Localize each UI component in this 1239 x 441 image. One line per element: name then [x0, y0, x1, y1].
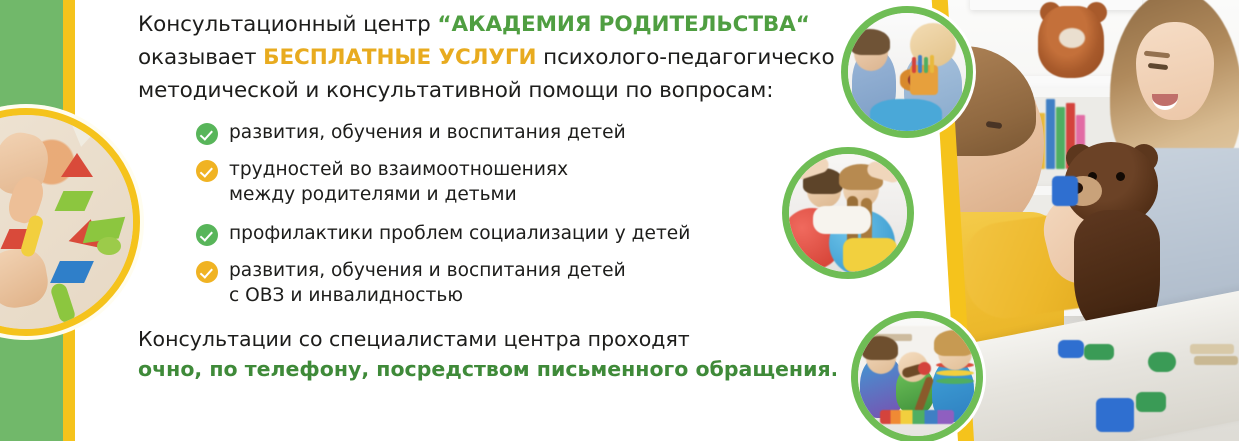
headline-line-3: методической и консультативной помощи по…	[138, 74, 858, 107]
boy-curly-hair	[934, 330, 974, 356]
pencil	[1190, 344, 1234, 354]
clay-piece-green	[1136, 392, 1166, 412]
list-item-line-1: развития, обучения и воспитания детей	[229, 260, 626, 281]
check-circle-icon	[196, 123, 218, 145]
headline-line-1-prefix: Консультационный центр	[138, 12, 437, 37]
wood-triangle-red	[61, 153, 93, 177]
banner-text-content: Консультационный центр “АКАДЕМИЯ РОДИТЕЛ…	[138, 8, 858, 384]
left-photo-table-surface	[0, 115, 133, 329]
list-item: профилактики проблем социализации у дете…	[196, 221, 858, 246]
blue-table	[870, 99, 942, 133]
closing-formats: очно, по телефону, посредством письменно…	[138, 354, 858, 384]
closing-statement: Консультации со специалистами центра про…	[138, 324, 858, 384]
clay-piece-blue	[1058, 340, 1084, 358]
headline-line-2-suffix: психолого-педагогической,	[536, 45, 855, 70]
wood-rhombus-blue	[50, 261, 94, 283]
wood-triangle-cream	[67, 123, 98, 150]
list-item-line-2: с ОВЗ и инвалидностью	[229, 285, 463, 306]
maraca-head	[918, 362, 931, 375]
check-circle-icon	[196, 160, 218, 182]
wood-bead-green	[97, 237, 121, 255]
teddy-muzzle	[1059, 28, 1085, 48]
crayon	[912, 57, 916, 73]
list-item: трудностей во взаимоотношениях между род…	[196, 157, 858, 207]
headline-line-1: Консультационный центр “АКАДЕМИЯ РОДИТЕЛ…	[138, 8, 858, 41]
headline-line-2-prefix: оказывает	[138, 45, 263, 70]
headline-free-services: БЕСПЛАТНЫЕ УСЛУГИ	[263, 45, 536, 70]
blue-toy-piece	[1052, 176, 1078, 206]
teddy-bear-hand-puppet	[1058, 142, 1168, 332]
list-item-label: развития, обучения и воспитания детей с …	[229, 258, 626, 308]
list-item-label: развития, обучения и воспитания детей	[229, 120, 626, 145]
bear-eye	[1116, 172, 1125, 181]
headline-center-name: “АКАДЕМИЯ РОДИТЕЛЬСТВА“	[437, 12, 809, 37]
crayon	[918, 55, 922, 73]
white-shirt	[813, 206, 871, 234]
check-circle-icon	[196, 224, 218, 246]
list-item-line-1: трудностей во взаимоотношениях	[229, 159, 568, 180]
list-item: развития, обучения и воспитания детей	[196, 120, 858, 145]
services-list: развития, обучения и воспитания детей тр…	[138, 120, 858, 308]
clay-piece-green	[1148, 352, 1176, 372]
stripe-yellow	[936, 370, 974, 376]
inset-circle-photo-children-exercise-balls	[782, 147, 914, 279]
list-item-label: профилактики проблем социализации у дете…	[229, 221, 690, 246]
child-hair	[850, 29, 890, 55]
consultation-center-banner: Консультационный центр “АКАДЕМИЯ РОДИТЕЛ…	[0, 0, 1239, 441]
list-item-line-2: между родителями и детьми	[229, 184, 517, 205]
list-item-label: трудностей во взаимоотношениях между род…	[229, 157, 568, 207]
stripe-green	[936, 378, 974, 384]
inset-circle-photo-toddlers-with-crayons	[841, 6, 973, 138]
clay-piece-blue	[1096, 398, 1134, 432]
list-item-line-1: профилактики проблем социализации у дете…	[229, 223, 690, 244]
crayon	[930, 55, 934, 73]
inset2-scene	[789, 154, 907, 272]
headline: Консультационный центр “АКАДЕМИЯ РОДИТЕЛ…	[138, 8, 858, 107]
headline-line-2: оказывает БЕСПЛАТНЫЕ УСЛУГИ психолого-пе…	[138, 41, 858, 74]
inset3-scene	[858, 318, 976, 436]
clay-piece-green	[1084, 344, 1114, 360]
pencil	[1194, 356, 1238, 365]
inset1-scene	[848, 13, 966, 131]
left-circle-photo-children-wooden-shapes	[0, 108, 140, 336]
list-item: развития, обучения и воспитания детей с …	[196, 258, 858, 308]
inset-circle-photo-children-with-instruments	[851, 311, 983, 441]
list-item-line-1: развития, обучения и воспитания детей	[229, 122, 626, 143]
closing-line-1: Консультации со специалистами центра про…	[138, 324, 858, 354]
check-circle-icon	[196, 261, 218, 283]
girl-yellow-skirt	[843, 238, 897, 272]
wood-stick-green	[49, 282, 77, 325]
book	[1046, 99, 1055, 169]
crayon	[924, 57, 928, 73]
wood-rhombus-green	[55, 191, 94, 211]
girl-hair	[862, 336, 898, 360]
xylophone	[880, 410, 954, 424]
